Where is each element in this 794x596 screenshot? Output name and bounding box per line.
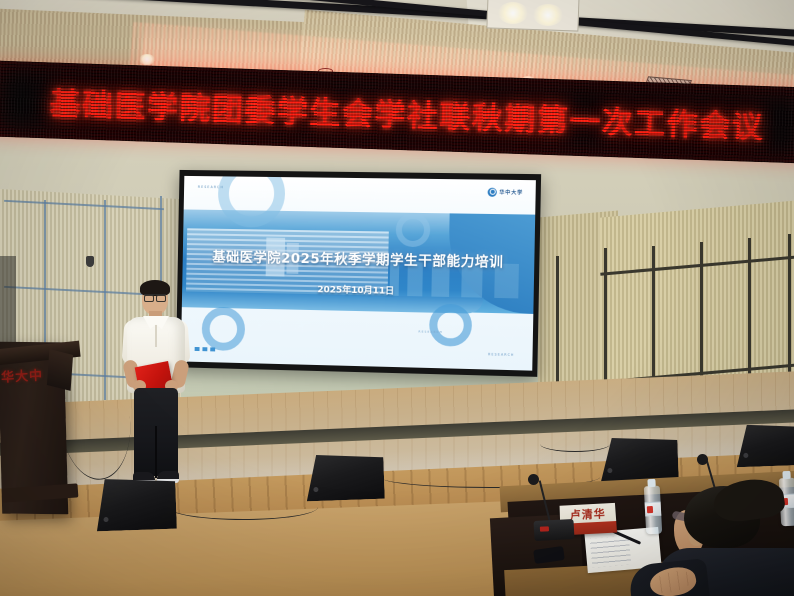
- microphone-base: [534, 519, 575, 541]
- glasses-icon: [144, 294, 166, 299]
- university-logo-icon: [488, 187, 497, 196]
- cable: [540, 436, 610, 452]
- university-name: 华中大学: [499, 188, 523, 195]
- presenter: [113, 280, 199, 498]
- conference-hall-photo: 基础医学院团委学生会学社联秋期第一次工作会议 RESEARCH 华中大学: [0, 0, 794, 596]
- seated-attendee: [630, 486, 794, 596]
- slide-brand-mid-right: RESEARCH: [418, 330, 442, 335]
- ceiling-light-icon: [533, 4, 563, 26]
- security-camera-icon: [86, 256, 94, 267]
- slide-dot: [210, 347, 215, 351]
- presentation-slide: RESEARCH 华中大学 基础医学院2025年秋季学期学生干部能力培训 202…: [181, 176, 536, 371]
- slide-dot: [202, 347, 207, 351]
- slide-ring-decoration: [395, 212, 430, 247]
- projection-screen: RESEARCH 华中大学 基础医学院2025年秋季学期学生干部能力培训 202…: [176, 170, 541, 377]
- slide-brand-bottom-right: RESEARCH: [488, 352, 515, 357]
- podium-text: 华大中: [1, 363, 68, 385]
- led-banner-text: 基础医学院团委学生会学社联秋期第一次工作会议: [49, 78, 765, 147]
- ceiling-light-icon: [498, 2, 528, 24]
- stage-monitor-speaker: [95, 477, 177, 532]
- stage-monitor-speaker: [599, 436, 678, 483]
- stage-monitor-speaker: [305, 453, 385, 502]
- microphone-head-icon: [697, 454, 708, 465]
- microphone-head-icon: [528, 474, 539, 485]
- notebook-ruled-lines: [590, 535, 631, 567]
- slide-ring-decoration: [202, 306, 246, 351]
- slide-logo-top-right: 华中大学: [488, 187, 523, 197]
- slide-ring-decoration: [429, 304, 472, 347]
- presenter-shirt-placket: [155, 325, 157, 347]
- slide-brand-top-left: RESEARCH: [198, 185, 224, 189]
- recessed-light-icon: [139, 54, 155, 65]
- presenter-leg-split: [155, 426, 157, 478]
- name-plate-text: 卢清华: [570, 505, 607, 523]
